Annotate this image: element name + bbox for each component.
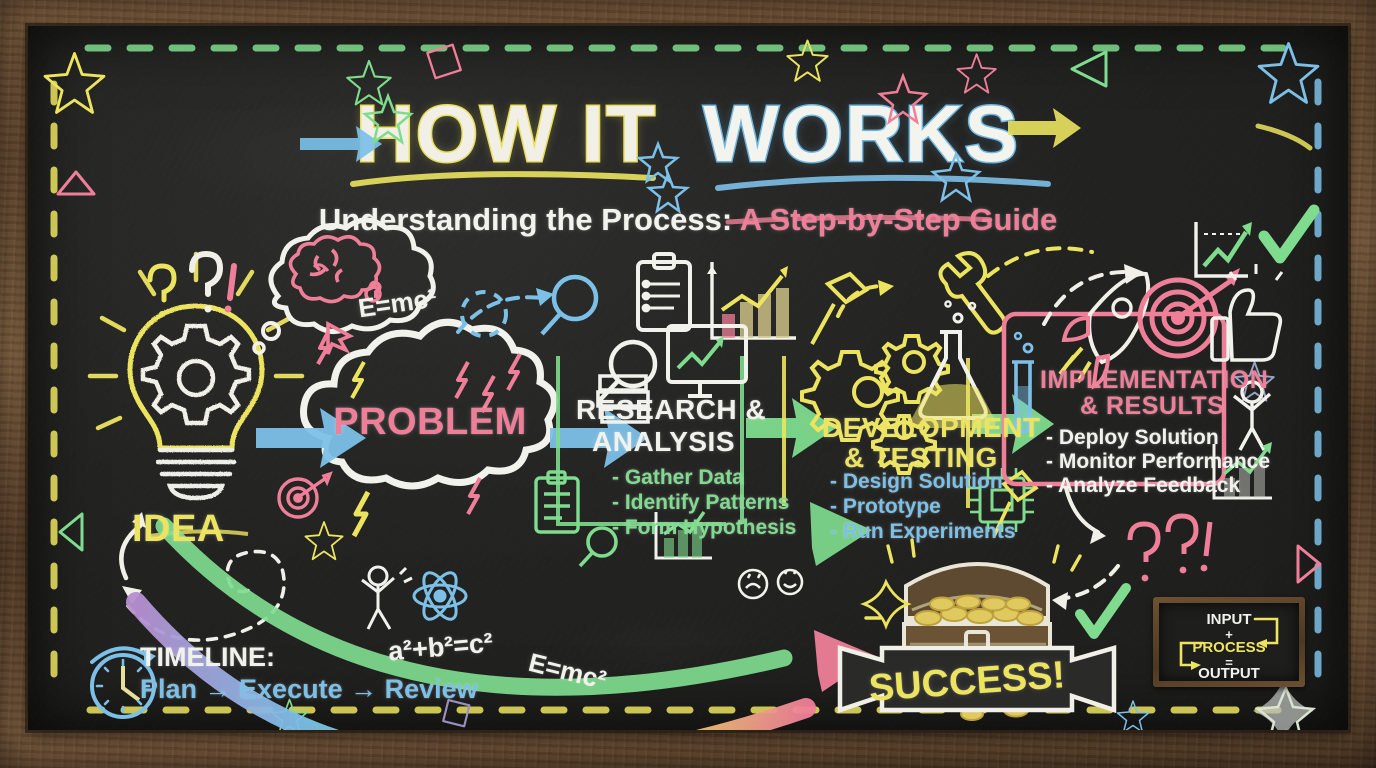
atom-icon	[414, 568, 466, 624]
chalkboard-frame: HOW IT WORKS Understanding the Pro	[0, 0, 1376, 768]
step-bullet-implementation-0: - Deploy Solution	[1046, 426, 1219, 451]
arrow-head	[536, 288, 554, 306]
timeline-sequence: Plan → Execute → Review	[140, 674, 478, 705]
mini-board-output: OUTPUT	[1159, 665, 1299, 682]
arrow-head	[878, 280, 894, 296]
step-bullet-research-2: - Form Hypothesis	[612, 516, 796, 541]
step-bullet-research-0: - Gather Data	[612, 466, 744, 491]
step-title-implementation-line1: IMPLEMENTATION	[1040, 366, 1268, 395]
step-bullet-development-0: - Design Solution	[830, 470, 1003, 495]
growth-chart-icon	[1196, 222, 1252, 276]
step-title-development-line1: DEVELOPMENT	[822, 412, 1041, 444]
input-process-output-board: INPUT + PROCESS = OUTPUT	[1153, 597, 1305, 687]
magnifying-glass-icon	[542, 277, 596, 334]
step-bullet-development-1: - Prototype	[830, 495, 941, 520]
step-label-idea: IDEA	[132, 508, 225, 551]
dashed-arc	[988, 248, 1092, 276]
check-mark-icon	[1264, 210, 1314, 258]
question-mark-icon	[1130, 516, 1210, 581]
mini-board-input: INPUT	[1159, 611, 1299, 628]
target-bullseye-icon	[279, 474, 330, 517]
step-bullet-implementation-2: - Analyze Feedback	[1046, 474, 1240, 499]
step-title-research-line2: ANALYSIS	[592, 426, 735, 458]
timeline-heading: TIMELINE:	[140, 642, 275, 673]
magnifying-glass-icon	[580, 528, 616, 566]
clipboard-icon	[638, 254, 690, 330]
step-bullet-research-1: - Identify Patterns	[612, 491, 789, 516]
chalkboard-slate: HOW IT WORKS Understanding the Pro	[28, 26, 1348, 730]
step-title-implementation-line2: & RESULTS	[1080, 392, 1224, 421]
dashed-arrow	[1066, 566, 1118, 598]
face-doodle-icon	[739, 570, 802, 598]
lightbulb-icon	[130, 306, 262, 498]
arrow-head	[1124, 264, 1144, 284]
arrow-head	[1052, 592, 1068, 610]
celebrating-person-icon	[362, 567, 412, 629]
step-bullet-development-2: - Run Experiments	[830, 520, 1016, 545]
mini-board-process: PROCESS	[1159, 639, 1299, 656]
hammer-icon	[812, 274, 866, 344]
check-mark-icon	[1080, 588, 1126, 634]
step-label-problem: PROBLEM	[330, 401, 530, 444]
wrench-icon	[940, 253, 1004, 332]
step-bullet-implementation-1: - Monitor Performance	[1046, 450, 1270, 475]
step-title-research-line1: RESEARCH &	[576, 394, 766, 426]
gear-icon	[143, 326, 249, 423]
